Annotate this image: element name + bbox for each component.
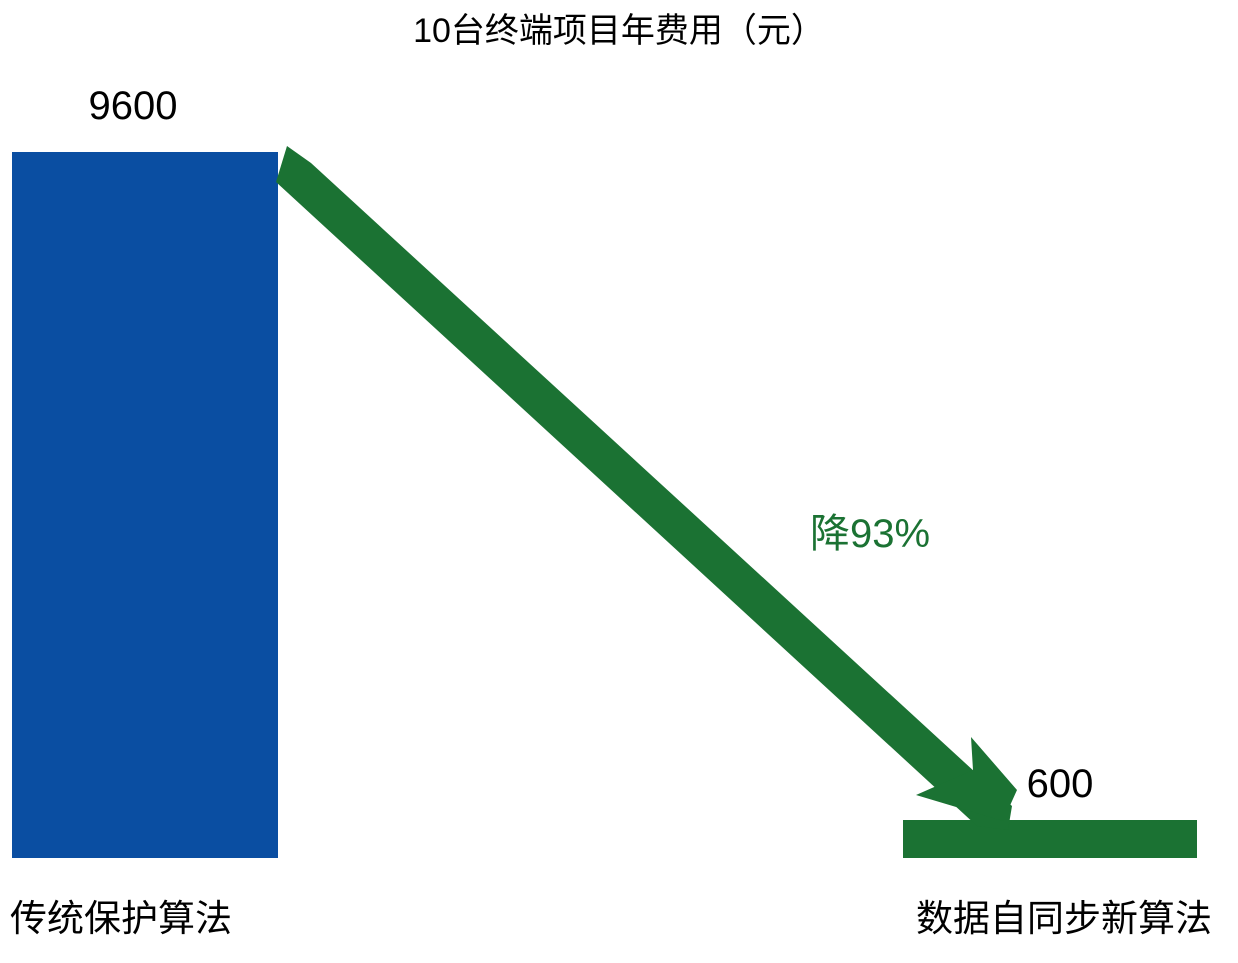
category-label-traditional: 传统保护算法 — [10, 896, 232, 942]
category-label-new: 数据自同步新算法 — [916, 896, 1212, 942]
bar-new — [903, 820, 1197, 858]
chart-canvas: 10台终端项目年费用（元） 9600 600 降93% 传统保护算法 数据自同步… — [0, 0, 1238, 963]
bar-traditional — [12, 152, 278, 858]
bar-value-label-new: 600 — [960, 762, 1160, 806]
chart-title: 10台终端项目年费用（元） — [0, 11, 1238, 51]
bar-value-label-traditional: 9600 — [33, 84, 233, 128]
reduction-annotation-label: 降93% — [810, 511, 930, 557]
